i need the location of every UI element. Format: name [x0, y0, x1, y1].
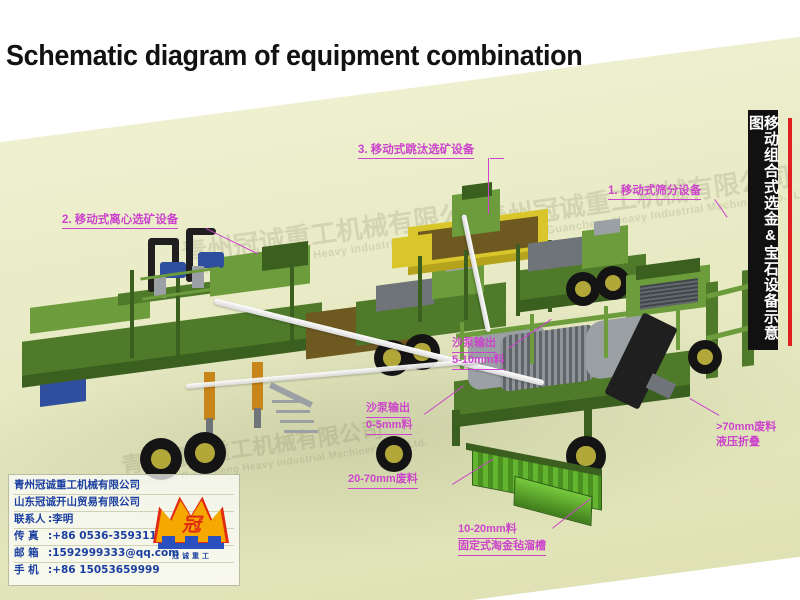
vertical-banner: 移动组合式选金&宝石设备示意图 [748, 110, 778, 350]
contact-key: 联系人 [14, 512, 48, 528]
label-waste-20-70mm: 20-70mm废料 [348, 472, 418, 489]
company-logo: 冠 冠诚重工 [152, 496, 230, 568]
frame-leg-2a [130, 270, 134, 358]
contact-value: 李明 [52, 513, 73, 525]
frame-leg-2b [176, 266, 180, 358]
wheel-2b [184, 432, 226, 474]
outrigger-jack-2b [252, 362, 263, 410]
page-title: Schematic diagram of equipment combinati… [6, 40, 582, 73]
logo-subtext: 冠诚重工 [158, 551, 226, 561]
frame-leg-2c [290, 256, 294, 352]
jig-discharge-chute [392, 233, 432, 268]
jig-leg-b [464, 250, 468, 320]
leader-3b [488, 158, 489, 214]
banner-red-bar [788, 118, 792, 346]
outrigger-rod-2b [254, 408, 261, 428]
label-pump-5-10mm: 沙泵输出 5-10mm料 [452, 336, 505, 370]
label-pump-0-5mm: 沙泵输出 0-5mm料 [366, 401, 412, 435]
logo-base-bar [158, 543, 224, 549]
mobile-value: +86 15053659999 [52, 564, 159, 576]
company-name-1: 青州冠诚重工机械有限公司 [14, 478, 234, 495]
label-waste-70mm: >70mm废料 液压折叠 [716, 420, 776, 450]
label-equipment-1: 1. 移动式筛分设备 [608, 182, 701, 200]
trommel-rail-post-b [530, 314, 534, 364]
label-equipment-2: 2. 移动式离心选矿设备 [62, 211, 178, 229]
outrigger-jack-2a [204, 372, 215, 420]
crown-letter: 冠 [182, 510, 201, 537]
jig-leg-a [418, 256, 422, 322]
leader-3a [490, 158, 504, 159]
email-key: 邮 箱 [14, 546, 48, 562]
label-sluice-10-20mm: 10-20mm料 固定式淘金毡溜槽 [458, 522, 546, 556]
trommel-rail-post-c [604, 306, 608, 358]
schematic-canvas: Schematic diagram of equipment combinati… [0, 0, 800, 600]
wheel-1a [566, 272, 600, 306]
wheel-trommel-a [376, 436, 412, 472]
stair-step-2d [284, 430, 318, 433]
fax-value: +86 0536-3593111 [52, 530, 164, 542]
wheel-1b [596, 266, 630, 300]
stair-step-2c [280, 420, 314, 423]
stair-step-2a [272, 400, 306, 403]
label-equipment-3: 3. 移动式跳汰选矿设备 [358, 141, 474, 159]
stair-step-2b [276, 410, 310, 413]
trommel-leg-a [452, 410, 460, 446]
fax-key: 传 真 [14, 529, 48, 545]
wheel-trommel-rear [688, 340, 722, 374]
mobile-key: 手 机 [14, 563, 48, 579]
